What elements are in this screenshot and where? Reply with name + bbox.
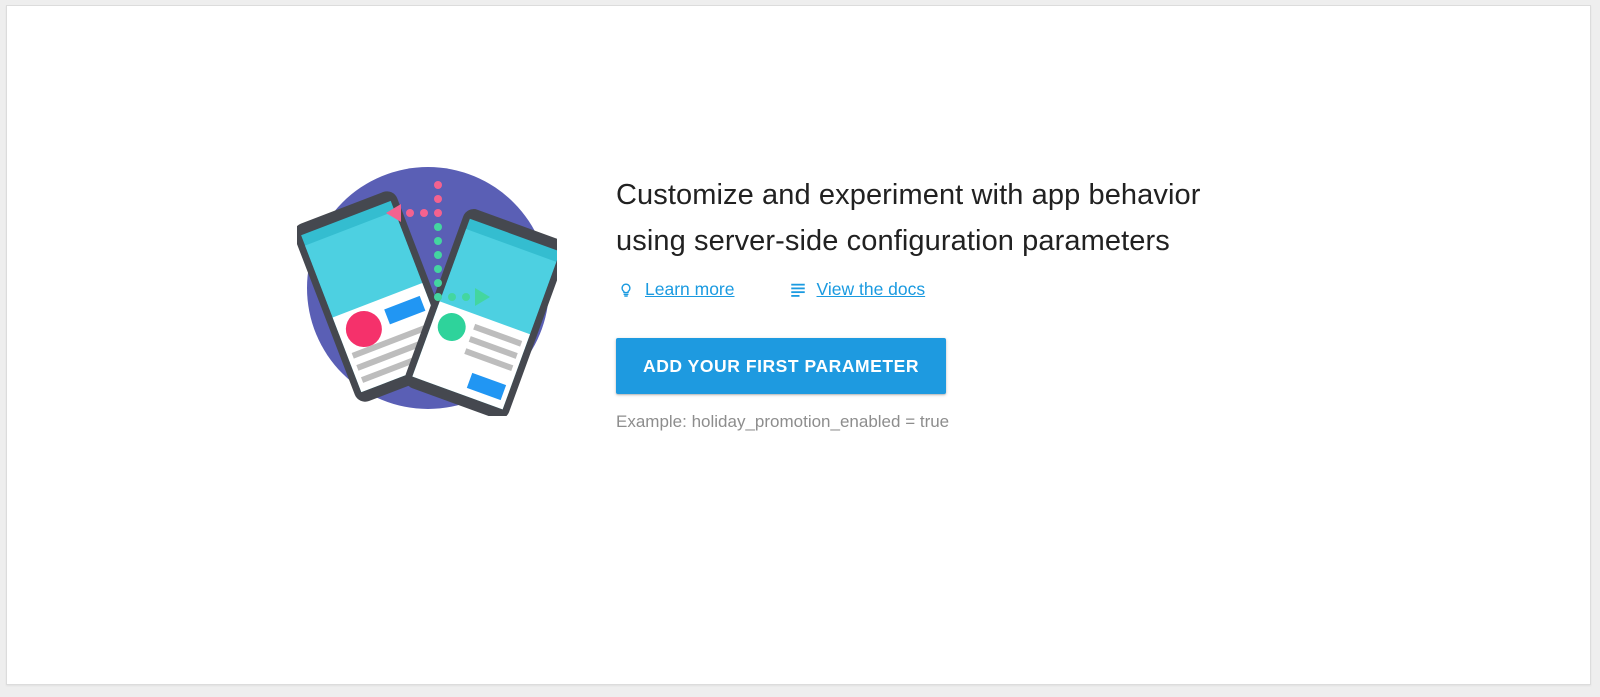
learn-more-link[interactable]: Learn more [616,278,735,300]
content-card: Customize and experiment with app behavi… [6,5,1591,685]
empty-state-panel: Customize and experiment with app behavi… [7,6,1590,684]
add-first-parameter-button[interactable]: ADD YOUR FIRST PARAMETER [616,338,946,394]
view-the-docs-link[interactable]: View the docs [788,278,926,300]
view-the-docs-link-label: View the docs [817,278,926,300]
cta-container: ADD YOUR FIRST PARAMETER [616,338,1256,394]
page-title: Customize and experiment with app behavi… [616,172,1216,264]
empty-state-text-column: Customize and experiment with app behavi… [616,172,1256,433]
helper-links-row: Learn more View the docs [616,277,1256,301]
learn-more-link-label: Learn more [645,278,735,300]
two-phones-ab-config-illustration [297,161,557,416]
lightbulb-icon [616,279,636,299]
subject-lines-icon [788,279,808,299]
example-hint-text: Example: holiday_promotion_enabled = tru… [616,411,1256,433]
